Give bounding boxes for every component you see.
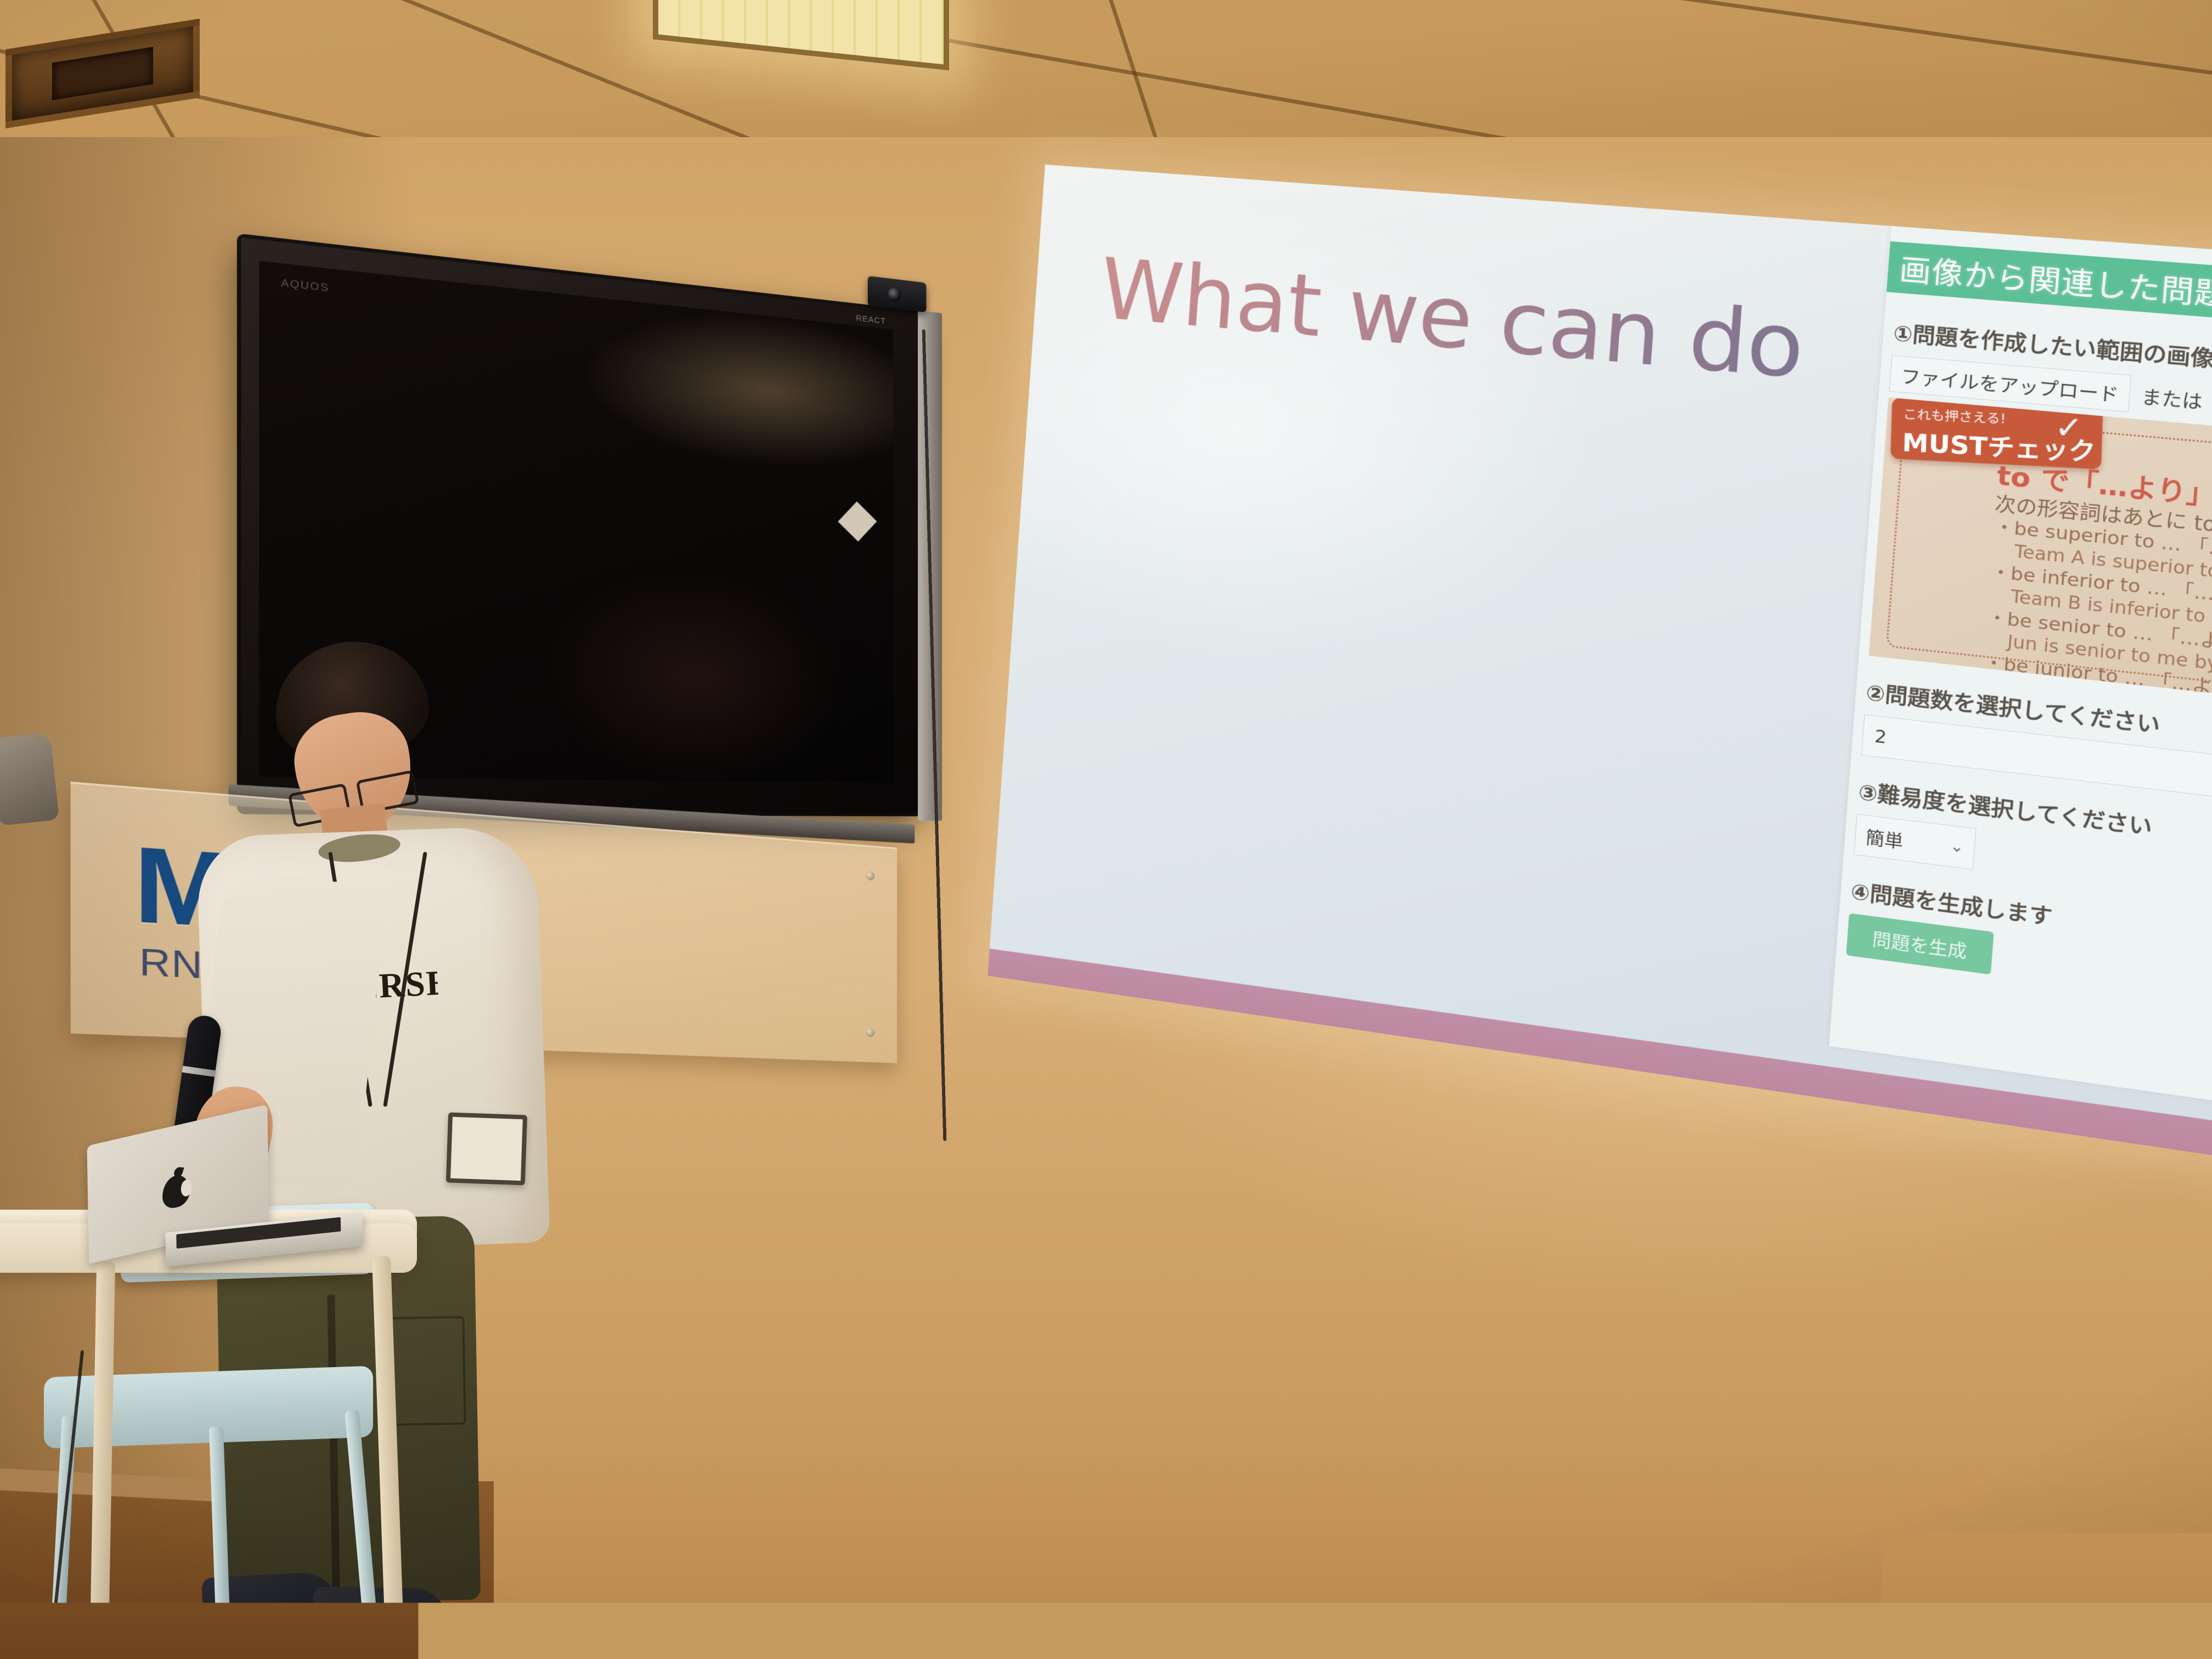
ceiling-line xyxy=(1591,0,2212,94)
generate-questions-button[interactable]: 問題を生成 xyxy=(1846,913,1994,974)
backpack xyxy=(0,732,59,826)
slide-title: What we can do xyxy=(1097,240,1807,399)
id-badge xyxy=(446,1113,527,1186)
must-check-tag: これも押さえる! MUSTチェック ✓ xyxy=(1891,397,2103,469)
textbook-preview-image: これも押さえる! MUSTチェック ✓ to で「…より」の意味を表す 次の形容… xyxy=(1869,397,2212,726)
chevron-down-icon: ⌄ xyxy=(1949,837,1965,856)
difficulty-select[interactable]: 簡単 ⌄ xyxy=(1854,814,1976,870)
app-body: ①問題を作成したい範囲の画像を ファイルをアップロード または HighEng.… xyxy=(1829,296,2212,1137)
chair-leg xyxy=(209,1426,233,1659)
macbook-laptop[interactable] xyxy=(87,1122,319,1263)
sign-screw xyxy=(866,871,875,881)
sign-screw xyxy=(866,1028,875,1037)
chair xyxy=(33,1207,373,1646)
difficulty-value: 簡単 xyxy=(1865,823,1904,853)
presentation-room-photo: AQUOS REACT MO RNET GROUP What we can do… xyxy=(0,0,2212,1659)
upload-or-label: または xyxy=(2129,375,2212,420)
check-icon: ✓ xyxy=(2054,410,2083,447)
app-screenshot: 画像から関連した問題 ①問題を作成したい範囲の画像を ファイルをアップロード ま… xyxy=(1829,219,2212,1137)
